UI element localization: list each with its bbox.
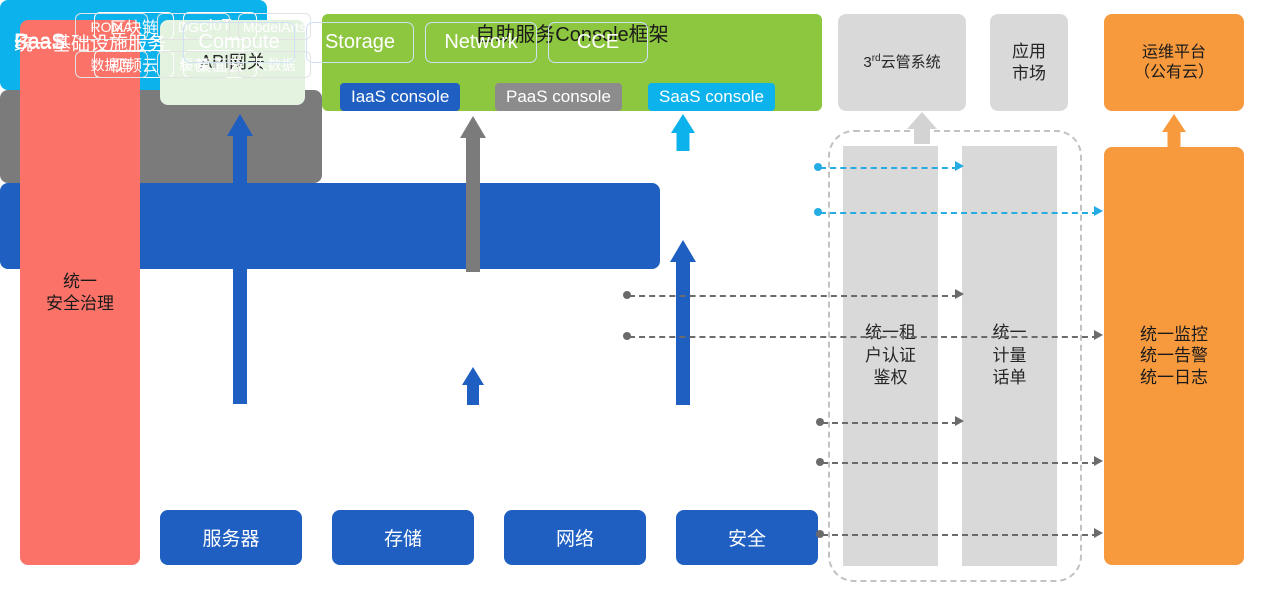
resource-box-security-label: 安全 [728, 524, 766, 551]
ops-platform-label: 运维平台 （公有云） [1134, 43, 1214, 83]
resource-box-network[interactable]: 网络 [504, 510, 646, 565]
resource-box-storage[interactable]: 存储 [332, 510, 474, 565]
resource-box-server-label: 服务器 [202, 524, 259, 551]
billing-line-1: 统一 [993, 323, 1027, 342]
console-chip-saas-label: SaaS console [659, 86, 764, 107]
infra-chip-compute-label: Compute [198, 31, 279, 54]
ops-monitor-line-2: 统一告警 [1140, 346, 1208, 365]
arrow-shared-to-third-party [905, 112, 939, 144]
third-party-prefix: 3 [863, 54, 871, 71]
infra-chip-storage-label: Storage [325, 31, 395, 54]
arrow-infra-to-paas [458, 367, 488, 405]
unified-infrastructure-label: 统一基础设施服务 [14, 29, 166, 56]
auth-line-2: 户认证 [865, 346, 916, 365]
billing-line-2: 计量 [993, 346, 1027, 365]
third-party-suffix: 云管系统 [881, 54, 941, 71]
infra-chip-cce-label: CCE [577, 31, 619, 54]
architecture-diagram: 统一 安全治理 API网关 自助服务Console框架 IaaS console… [0, 0, 1265, 605]
connector-infra-to-billing [822, 422, 958, 424]
connector-paas-to-billing [629, 295, 958, 297]
resource-box-storage-label: 存储 [384, 524, 422, 551]
ops-monitor-line-3: 统一日志 [1140, 368, 1208, 387]
console-chip-iaas-label: IaaS console [351, 86, 449, 107]
connector-saas-to-billing [820, 167, 958, 169]
shared-service-billing-column[interactable]: 统一 计量 话单 [962, 146, 1057, 566]
arrow-infra-to-saas [668, 240, 698, 405]
app-market-line-2: 市场 [1012, 64, 1046, 83]
arrow-infra-to-api-gateway [225, 114, 255, 404]
security-governance-label: 统一 安全治理 [46, 271, 114, 314]
console-chip-paas[interactable]: PaaS console [495, 83, 622, 111]
paas-chip-database-label: 数据库 [91, 55, 133, 75]
third-party-superscript: rd [872, 53, 881, 64]
shared-service-auth-column[interactable]: 统一租 户认证 鉴权 [843, 146, 938, 566]
connector-resources-to-ops [822, 534, 1098, 536]
ops-monitor-line-1: 统一监控 [1140, 325, 1208, 344]
console-chip-iaas[interactable]: IaaS console [340, 83, 460, 111]
resource-box-security[interactable]: 安全 [676, 510, 818, 565]
security-governance-panel[interactable]: 统一 安全治理 [20, 20, 140, 565]
console-chip-saas[interactable]: SaaS console [648, 83, 775, 111]
app-market-box[interactable]: 应用 市场 [990, 14, 1068, 111]
third-party-label: 3rd云管系统 [863, 53, 940, 73]
resource-box-network-label: 网络 [556, 524, 594, 551]
connector-arrowhead-paas-ops [1094, 330, 1103, 340]
auth-line-3: 鉴权 [874, 368, 908, 387]
billing-line-3: 话单 [993, 368, 1027, 387]
connector-arrowhead-saas-billing [955, 161, 964, 171]
connector-arrowhead-resources-ops [1094, 528, 1103, 538]
shared-service-billing-label: 统一 计量 话单 [993, 322, 1027, 389]
ops-monitoring-label: 统一监控 统一告警 统一日志 [1140, 324, 1208, 388]
security-line-2: 安全治理 [46, 294, 114, 313]
console-chip-paas-label: PaaS console [506, 86, 611, 107]
ops-platform-line-2: （公有云） [1134, 64, 1214, 81]
connector-infra-to-ops [822, 462, 1098, 464]
infra-chip-storage[interactable]: Storage [306, 22, 414, 63]
infra-chip-cce[interactable]: CCE [548, 22, 648, 63]
ops-platform-box[interactable]: 运维平台 （公有云） [1104, 14, 1244, 111]
connector-arrowhead-infra-ops [1094, 456, 1103, 466]
resource-box-server[interactable]: 服务器 [160, 510, 302, 565]
security-line-1: 统一 [63, 272, 97, 291]
connector-paas-to-ops [629, 336, 1098, 338]
third-party-cloud-mgmt-box[interactable]: 3rd云管系统 [838, 14, 966, 111]
infra-chip-network-label: Network [444, 31, 517, 54]
shared-service-auth-label: 统一租 户认证 鉴权 [865, 322, 916, 389]
connector-saas-to-ops [820, 212, 1098, 214]
ops-monitoring-panel[interactable]: 统一监控 统一告警 统一日志 [1104, 147, 1244, 565]
connector-arrowhead-infra-billing [955, 416, 964, 426]
ops-platform-line-1: 运维平台 [1142, 44, 1206, 61]
arrow-ops-monitor-to-ops-platform [1159, 114, 1189, 148]
arrow-saas-to-console [668, 114, 698, 150]
app-market-line-1: 应用 [1012, 42, 1046, 61]
arrow-paas-to-console [458, 116, 488, 272]
infra-chip-network[interactable]: Network [425, 22, 537, 63]
auth-line-1: 统一租 [865, 323, 916, 342]
connector-arrowhead-paas-billing [955, 289, 964, 299]
connector-arrowhead-saas-ops [1094, 206, 1103, 216]
infra-chip-compute[interactable]: Compute [183, 22, 295, 63]
app-market-label: 应用 市场 [1012, 41, 1046, 84]
